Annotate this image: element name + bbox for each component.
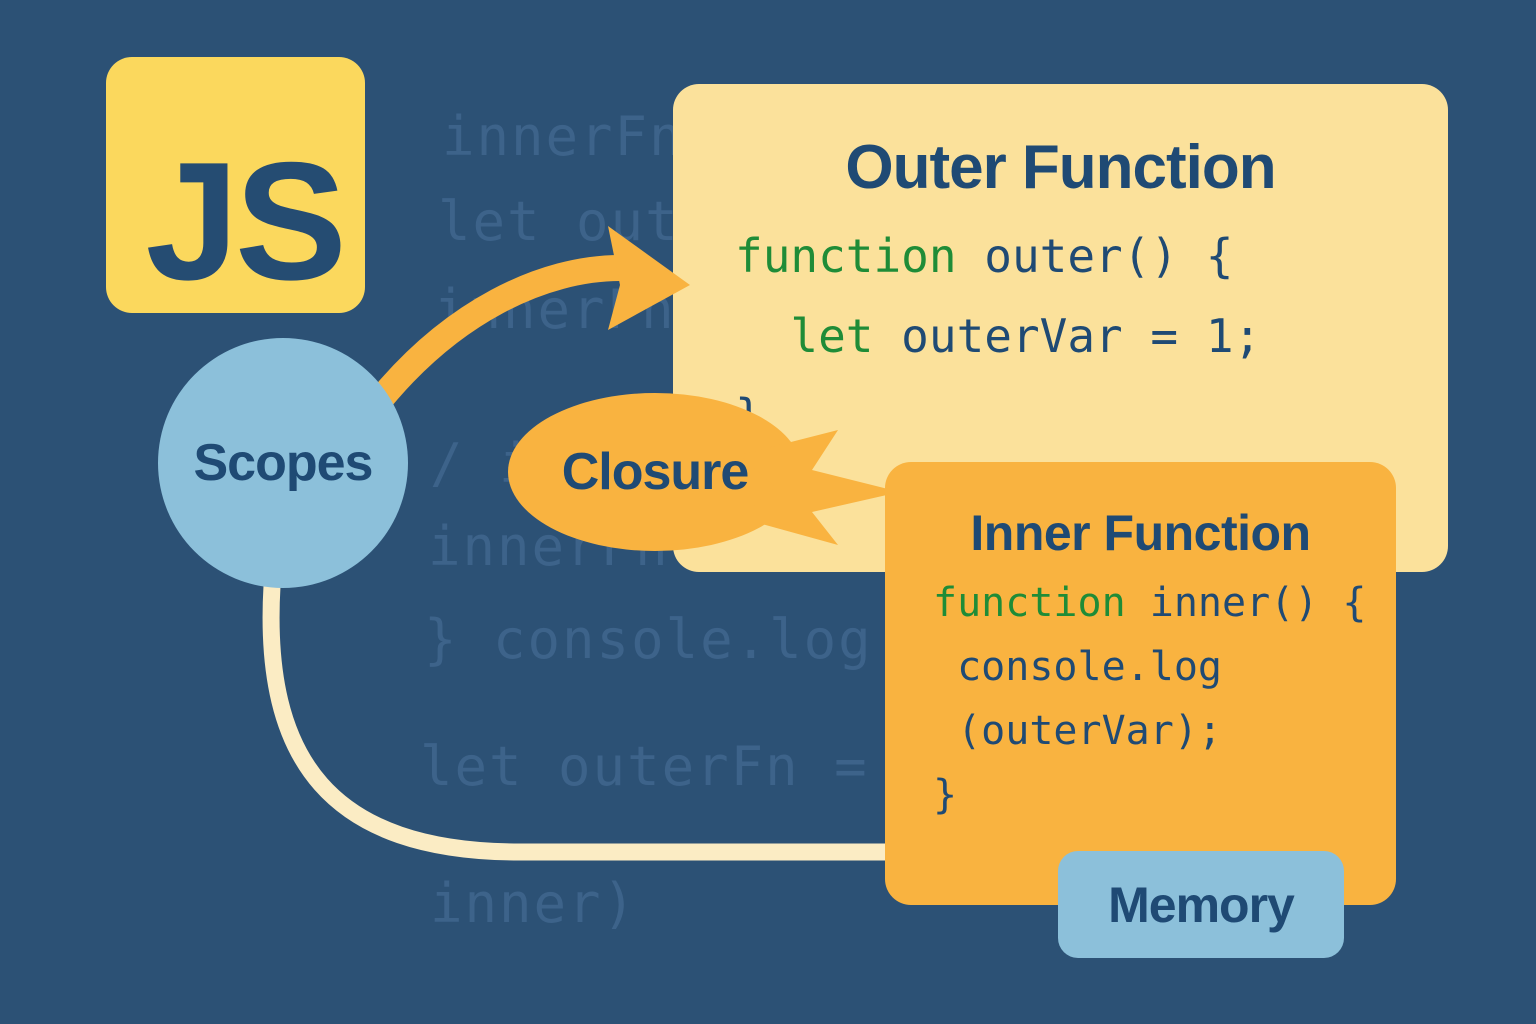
inner-code-line: console.log bbox=[933, 644, 1396, 690]
closure-node[interactable]: Closure bbox=[508, 393, 802, 551]
closure-label: Closure bbox=[562, 442, 749, 502]
bg-code-line: innerFn( bbox=[434, 278, 710, 341]
scopes-node[interactable]: Scopes bbox=[158, 338, 408, 588]
javascript-logo: JS bbox=[106, 57, 365, 313]
outer-code-line: function outer() { bbox=[735, 229, 1448, 283]
scopes-label: Scopes bbox=[194, 433, 373, 493]
memory-badge-label: Memory bbox=[1108, 876, 1294, 934]
inner-function-title: Inner Function bbox=[885, 504, 1396, 562]
inner-code-line: (outerVar); bbox=[933, 708, 1396, 754]
code-text: console.log bbox=[933, 644, 1222, 690]
inner-code-line: function inner() { bbox=[933, 580, 1396, 626]
code-keyword: let bbox=[735, 309, 873, 363]
outer-function-title: Outer Function bbox=[673, 132, 1448, 203]
scopes-to-inner-link bbox=[271, 586, 920, 852]
code-keyword: function bbox=[735, 229, 957, 283]
inner-function-card[interactable]: Inner Function function inner() { consol… bbox=[885, 462, 1396, 905]
bg-code-line: inner) bbox=[430, 872, 637, 935]
diagram-canvas: innerFn = let outer innerFn( / i innerFn… bbox=[0, 0, 1536, 1024]
code-text: (outerVar); bbox=[933, 708, 1222, 754]
code-text: inner() { bbox=[1126, 580, 1367, 626]
javascript-logo-text: JS bbox=[146, 137, 344, 305]
outer-code-line: let outerVar = 1; bbox=[735, 309, 1448, 363]
code-text: } bbox=[933, 772, 957, 818]
outer-code-line: } bbox=[735, 389, 1448, 443]
code-keyword: function bbox=[933, 580, 1126, 626]
code-text: outerVar = 1; bbox=[873, 309, 1261, 363]
memory-badge[interactable]: Memory bbox=[1058, 851, 1344, 958]
inner-code-line: } bbox=[933, 772, 1396, 818]
scopes-to-outer-arrow bbox=[372, 226, 690, 410]
code-text: outer() { bbox=[957, 229, 1234, 283]
